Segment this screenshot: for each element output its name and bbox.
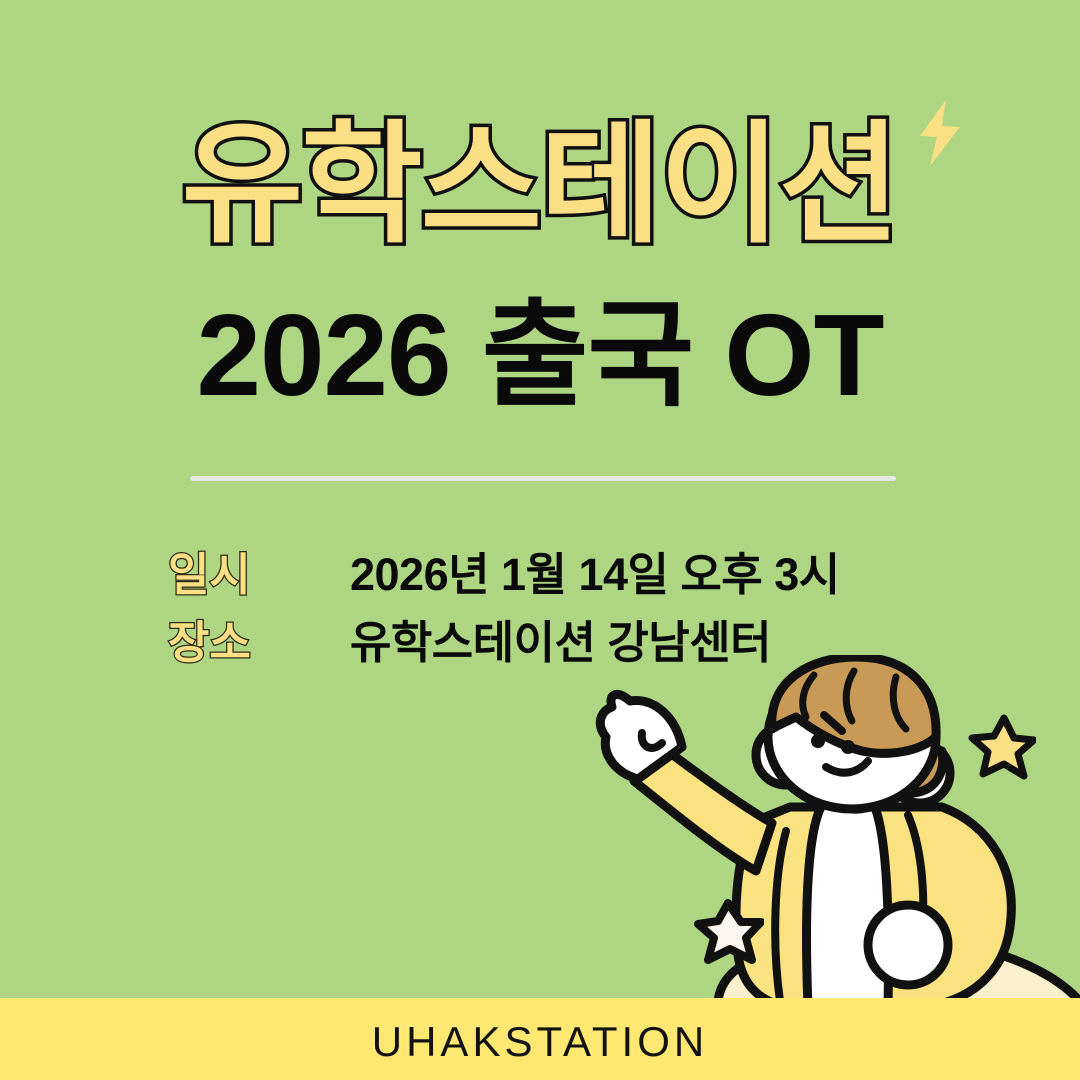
- page-title-line2: 2026 출국 OT: [0, 295, 1080, 417]
- brand-name: UHAKSTATION: [0, 1018, 1080, 1066]
- detail-value-date: 2026년 1월 14일 오후 3시: [350, 538, 840, 603]
- star-icon: [694, 898, 764, 966]
- detail-label-date: 일시: [168, 538, 350, 603]
- divider: [190, 476, 896, 481]
- event-details: 일시 2026년 1월 14일 오후 3시 장소 유학스테이션 강남센터: [168, 538, 968, 674]
- star-icon: [968, 714, 1036, 780]
- page-title-line1: 유학스테이션: [0, 118, 1080, 253]
- poster-canvas: 유학스테이션 2026 출국 OT 일시 2026년 1월 14일 오후 3시 …: [0, 0, 1080, 1080]
- detail-label-place: 장소: [168, 606, 350, 671]
- detail-row-date: 일시 2026년 1월 14일 오후 3시: [168, 538, 968, 606]
